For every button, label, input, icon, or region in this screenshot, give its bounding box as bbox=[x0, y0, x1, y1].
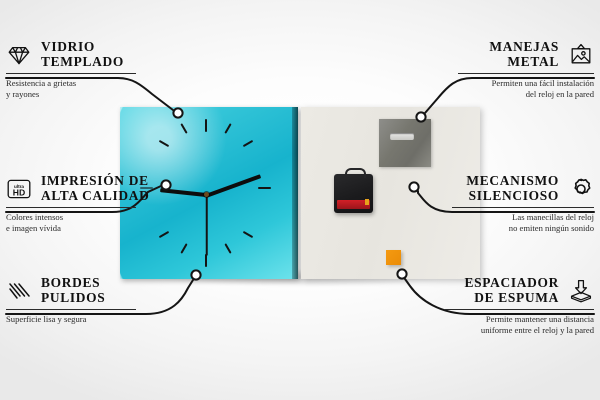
hour-hand bbox=[160, 188, 206, 197]
feature-divider bbox=[6, 207, 136, 208]
feature-divider bbox=[458, 73, 594, 74]
feature-callout-espaciador-espuma: ESPACIADOR DE ESPUMA Permite mantener un… bbox=[444, 276, 594, 335]
product-photo bbox=[120, 107, 480, 279]
second-hand bbox=[206, 196, 208, 256]
feature-subtitle: Las manecillas del reloj no emiten ningú… bbox=[452, 212, 594, 233]
feature-header: MECANISMO SILENCIOSO bbox=[452, 174, 594, 203]
feature-title: MANEJAS METAL bbox=[489, 40, 559, 69]
minute-hand bbox=[205, 174, 261, 198]
gear-icon bbox=[568, 176, 594, 202]
feature-subtitle: Colores intensos e imagen vívida bbox=[6, 212, 136, 233]
metal-hanger-plate bbox=[379, 119, 431, 167]
feature-callout-vidrio-templado: VIDRIO TEMPLADO Resistencia a grietas y … bbox=[6, 40, 136, 99]
clock-mechanism-box bbox=[334, 174, 373, 213]
feature-subtitle: Resistencia a grietas y rayones bbox=[6, 78, 136, 99]
feature-callout-impresion-alta-calidad: ultra HD IMPRESIÓN DE ALTA CALIDAD Color… bbox=[6, 174, 136, 233]
ultra-hd-icon: ultra HD bbox=[6, 176, 32, 202]
feature-divider bbox=[444, 309, 594, 310]
hanger-slot bbox=[390, 133, 414, 140]
mechanism-hanger-loop bbox=[345, 168, 366, 178]
feature-title: VIDRIO TEMPLADO bbox=[41, 40, 124, 69]
feature-divider bbox=[6, 309, 136, 310]
feature-subtitle: Permite mantener una distancia uniforme … bbox=[444, 314, 594, 335]
feature-title: MECANISMO SILENCIOSO bbox=[466, 174, 559, 203]
feature-header: ESPACIADOR DE ESPUMA bbox=[444, 276, 594, 305]
feature-callout-bordes-pulidos: BORDES PULIDOS Superficie lisa y segura bbox=[6, 276, 136, 325]
feature-title: ESPACIADOR DE ESPUMA bbox=[464, 276, 559, 305]
feature-title: IMPRESIÓN DE ALTA CALIDAD bbox=[41, 174, 149, 203]
foam-spacer-arrow-icon bbox=[568, 278, 594, 304]
feature-header: BORDES PULIDOS bbox=[6, 276, 136, 305]
feature-header: MANEJAS METAL bbox=[458, 40, 594, 69]
feature-callout-mecanismo-silencioso: MECANISMO SILENCIOSO Las manecillas del … bbox=[452, 174, 594, 233]
feature-callout-manejas-metal: MANEJAS METAL Permiten una fácil instala… bbox=[458, 40, 594, 99]
feature-divider bbox=[6, 73, 136, 74]
feature-divider bbox=[452, 207, 594, 208]
diamond-icon bbox=[6, 42, 32, 68]
infographic-canvas: VIDRIO TEMPLADO Resistencia a grietas y … bbox=[0, 0, 600, 400]
feature-header: VIDRIO TEMPLADO bbox=[6, 40, 136, 69]
polished-edges-icon bbox=[6, 278, 32, 304]
foam-spacer bbox=[386, 250, 401, 265]
feature-header: ultra HD IMPRESIÓN DE ALTA CALIDAD bbox=[6, 174, 136, 203]
svg-text:HD: HD bbox=[13, 187, 25, 197]
feature-title: BORDES PULIDOS bbox=[41, 276, 105, 305]
picture-frame-hanger-icon bbox=[568, 42, 594, 68]
clock-hands-hub bbox=[204, 192, 209, 197]
battery-terminal bbox=[365, 199, 369, 205]
feature-subtitle: Permiten una fácil instalación del reloj… bbox=[458, 78, 594, 99]
feature-subtitle: Superficie lisa y segura bbox=[6, 314, 136, 324]
